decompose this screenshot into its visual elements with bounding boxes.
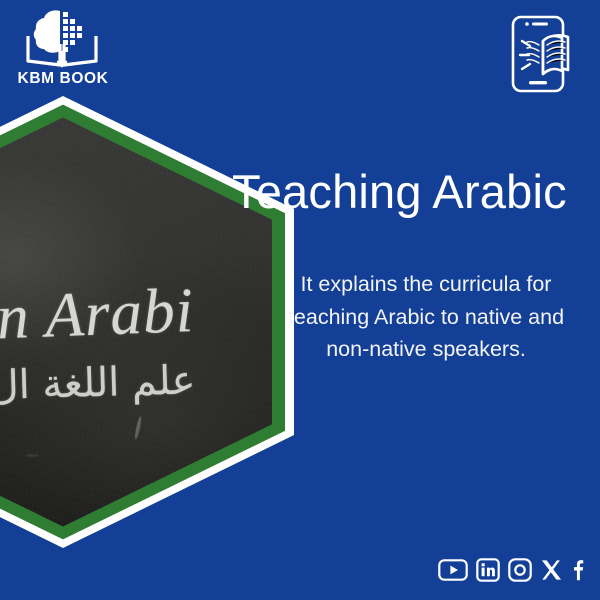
brand-logo[interactable]: KBM BOOK [8,8,118,94]
facebook-icon[interactable] [571,557,584,588]
x-twitter-icon[interactable] [540,557,563,588]
description-text: It explains the curricula for teaching A… [282,268,570,366]
smartphone-ebook-icon [504,14,582,94]
linkedin-icon[interactable] [476,558,500,587]
poster-canvas: KBM BOOK [0,0,600,600]
chalk-latin-text: n Arabi [0,275,195,355]
chalk-smudge [134,416,142,440]
social-links-bar [438,556,584,588]
youtube-icon[interactable] [438,559,468,586]
page-title: Teaching Arabic [232,166,584,218]
hexagon-image-frame: n Arabi علم اللغة ال [0,96,294,548]
brand-name: KBM BOOK [8,70,118,88]
instagram-icon[interactable] [508,558,532,587]
book-brain-pixel-logo-icon [22,8,102,70]
chalk-arabic-text: علم اللغة ال [0,357,196,409]
chalk-smudge [26,454,39,457]
